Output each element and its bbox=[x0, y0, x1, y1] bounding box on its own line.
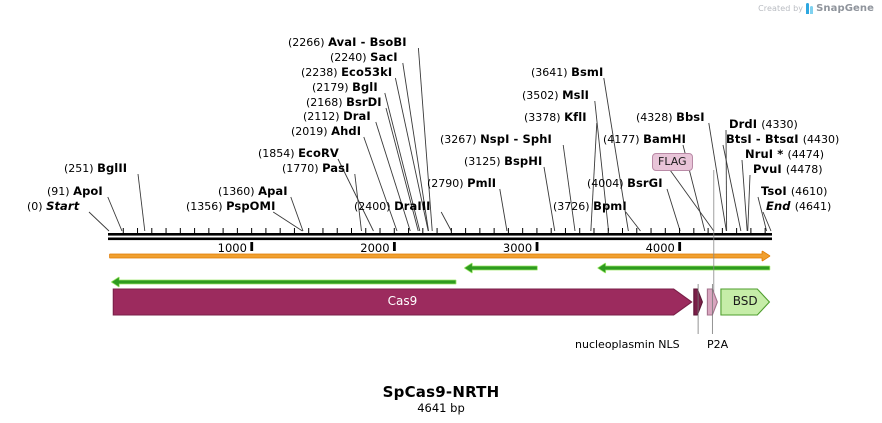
page-subtitle: 4641 bp bbox=[0, 401, 882, 415]
feature-track bbox=[0, 0, 882, 423]
callout-nucleoplasmin-nls: nucleoplasmin NLS bbox=[575, 338, 680, 351]
feature-green-right-arrow[interactable] bbox=[465, 264, 537, 273]
feature-green-far-right-arrow[interactable] bbox=[598, 264, 769, 273]
page-title: SpCas9-NRTH bbox=[0, 383, 882, 401]
gene-label-bsd: BSD bbox=[721, 294, 769, 308]
gene-label-cas9: Cas9 bbox=[113, 294, 691, 308]
feature-orange-full-length[interactable] bbox=[110, 252, 769, 261]
feature-green-left-arrow[interactable] bbox=[112, 278, 456, 287]
callout-p2a: P2A bbox=[707, 338, 728, 351]
